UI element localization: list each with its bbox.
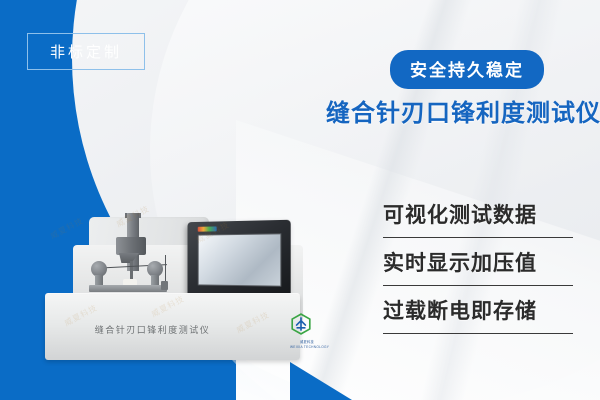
product-machine: 缝合针刃口锋利度测试仪 威夏科技 WEIXIA TECHNOLOGY 威夏科技 … <box>45 205 300 365</box>
hmi-display-area[interactable] <box>198 233 282 286</box>
feature-label: 可视化测试数据 <box>383 199 578 233</box>
feature-divider <box>383 333 573 334</box>
feature-list: 可视化测试数据 实时显示加压值 过载断电即存储 <box>383 199 578 343</box>
hexagon-emblem-icon <box>290 313 312 335</box>
watermark-text: 威夏科技 <box>49 215 86 242</box>
hmi-brand-strip-icon <box>198 226 217 231</box>
feature-item: 过载断电即存储 <box>383 295 578 334</box>
feature-label: 实时显示加压值 <box>383 247 578 281</box>
custom-order-badge: 非标定制 <box>27 33 145 70</box>
manufacturer-logo: 威夏科技 WEIXIA TECHNOLOGY <box>290 313 324 347</box>
fixture-head-block <box>116 237 146 255</box>
feature-item: 可视化测试数据 <box>383 199 578 238</box>
fixture-crossbar <box>89 285 167 292</box>
fixture-cable-connector <box>161 281 168 290</box>
machine-base-label: 缝合针刃口锋利度测试仪 <box>45 323 260 336</box>
product-headline: 缝合针刃口锋利度测试仪 <box>326 93 596 128</box>
test-fixture-assembly <box>83 213 188 305</box>
feature-label: 过载断电即存储 <box>383 295 578 329</box>
tagline-pill-badge: 安全持久稳定 <box>390 50 544 89</box>
feature-divider <box>383 237 573 238</box>
logo-caption-en: WEIXIA TECHNOLOGY <box>290 345 324 350</box>
feature-divider <box>383 285 573 286</box>
fixture-sensor-cable <box>165 255 166 283</box>
feature-item: 实时显示加压值 <box>383 247 578 286</box>
product-banner: 非标定制 安全持久稳定 缝合针刃口锋利度测试仪 可视化测试数据 实时显示加压值 … <box>0 0 600 400</box>
hmi-touchscreen[interactable] <box>188 220 291 301</box>
